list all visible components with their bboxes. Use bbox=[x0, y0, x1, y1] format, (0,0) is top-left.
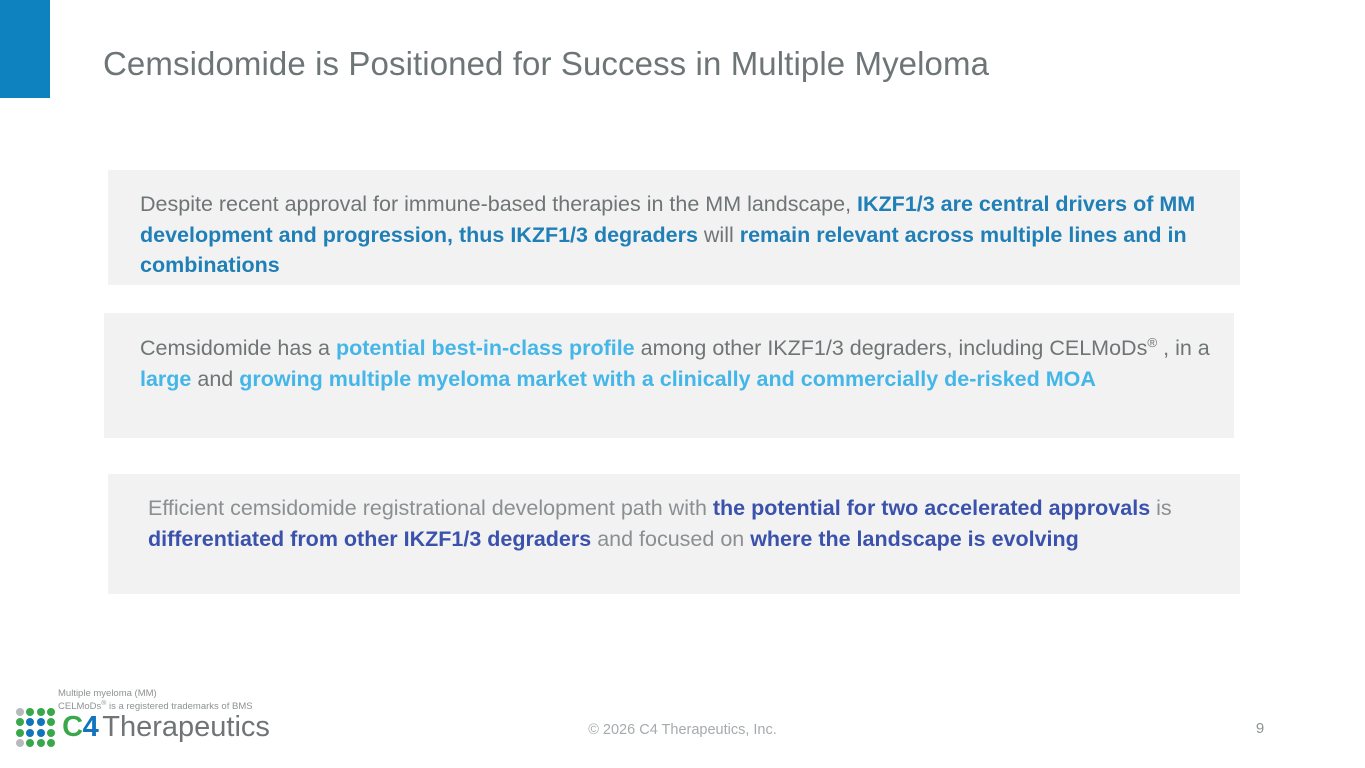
text-segment: and focused on bbox=[591, 527, 750, 551]
message-box-1-text: Despite recent approval for immune-based… bbox=[140, 189, 1226, 281]
accent-bar bbox=[0, 0, 50, 98]
copyright-notice: © 2026 C4 Therapeutics, Inc. bbox=[0, 722, 1365, 738]
logo-dot bbox=[47, 708, 55, 716]
message-box-2-text: Cemsidomide has a potential best-in-clas… bbox=[140, 333, 1220, 394]
logo-dot bbox=[26, 708, 34, 716]
logo-dot bbox=[26, 739, 34, 747]
logo-dot bbox=[37, 708, 45, 716]
text-segment: large bbox=[140, 367, 191, 391]
page-number: 9 bbox=[1245, 720, 1275, 737]
footnote-line-1: Multiple myeloma (MM) bbox=[58, 688, 253, 701]
message-box-3-text: Efficient cemsidomide registrational dev… bbox=[148, 493, 1226, 554]
text-segment: , in a bbox=[1157, 336, 1210, 360]
text-segment: potential best-in-class profile bbox=[336, 336, 635, 360]
logo-dot bbox=[37, 739, 45, 747]
text-segment: Cemsidomide has a bbox=[140, 336, 336, 360]
text-segment: will bbox=[698, 223, 740, 247]
message-box-3: Efficient cemsidomide registrational dev… bbox=[108, 474, 1240, 594]
logo-dot bbox=[47, 739, 55, 747]
text-segment: where the landscape is evolving bbox=[750, 527, 1079, 551]
page-title: Cemsidomide is Positioned for Success in… bbox=[103, 42, 989, 86]
message-box-2: Cemsidomide has a potential best-in-clas… bbox=[104, 313, 1234, 438]
text-segment: and bbox=[191, 367, 239, 391]
logo-dot bbox=[16, 708, 24, 716]
text-segment: the potential for two accelerated approv… bbox=[713, 496, 1150, 520]
logo-dot bbox=[16, 739, 24, 747]
text-segment: differentiated from other IKZF1/3 degrad… bbox=[148, 527, 591, 551]
text-segment: growing multiple myeloma market with a c… bbox=[239, 367, 1096, 391]
message-box-1: Despite recent approval for immune-based… bbox=[108, 170, 1240, 285]
slide-canvas: Cemsidomide is Positioned for Success in… bbox=[0, 0, 1365, 768]
text-segment: among other IKZF1/3 degraders, including… bbox=[635, 336, 1148, 360]
text-segment: Despite recent approval for immune-based… bbox=[140, 192, 857, 216]
text-segment: ® bbox=[1147, 335, 1157, 350]
text-segment: is bbox=[1150, 496, 1172, 520]
text-segment: Efficient cemsidomide registrational dev… bbox=[148, 496, 713, 520]
